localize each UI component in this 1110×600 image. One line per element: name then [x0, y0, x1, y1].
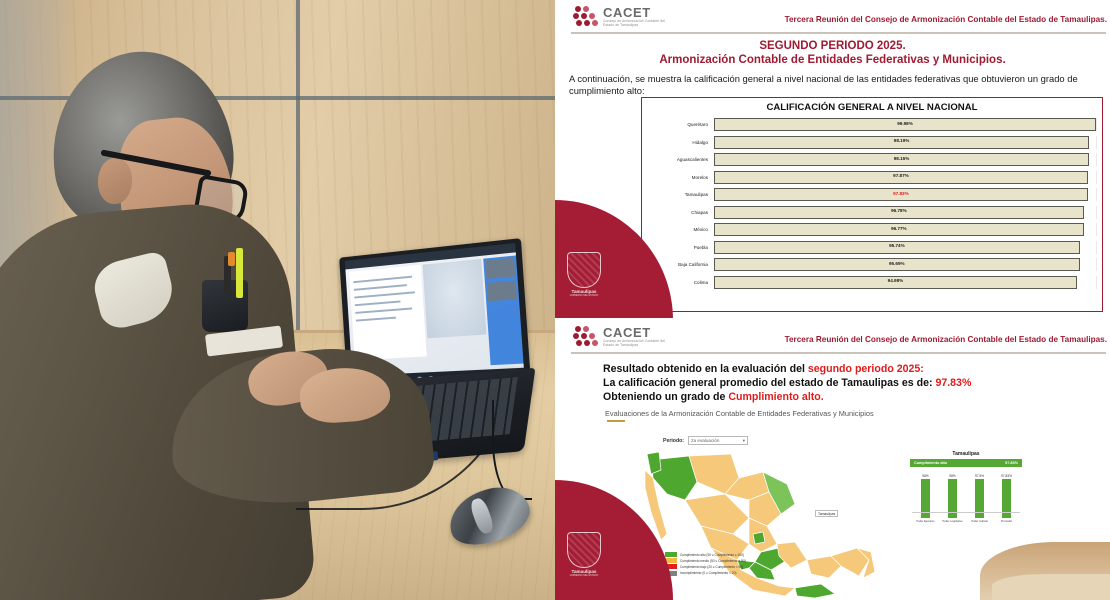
- mini-bar-value: 98%: [943, 474, 963, 478]
- state-aguascalientes[interactable]: [753, 532, 765, 544]
- bar-category-label: Tamaulipas: [642, 192, 714, 197]
- corner-decoration-tan-light: [992, 574, 1110, 600]
- slide-resultado-tamaulipas: CACET Consejo de Armonización Contable d…: [555, 320, 1110, 600]
- bar-value-label: 96.78%: [891, 208, 907, 213]
- meeting-photo: ThinkPad: [0, 0, 555, 600]
- tamaulipas-result-panel: Tamaulipas Cumplimiento alto 97.83% 98%P…: [907, 450, 1025, 532]
- period-label: Periodo:: [663, 438, 684, 444]
- cacet-logo: CACET Consejo de Armonización Contable d…: [573, 324, 693, 352]
- bar-value-label: 95.69%: [889, 261, 905, 266]
- legend-item: Cumplimiento bajo (20 ≤ Cumplimiento < 5…: [665, 564, 746, 569]
- chart-title: CALIFICACIÓN GENERAL A NIVEL NACIONAL: [642, 98, 1102, 116]
- chart-gridline: [1096, 258, 1097, 271]
- bar-category-label: Hidalgo: [642, 140, 714, 145]
- highlighter-pen: [236, 248, 243, 298]
- chevron-down-icon: ▾: [743, 438, 745, 444]
- cacet-logo-subtitle: Consejo de Armonización Contable del Est…: [603, 339, 673, 347]
- bar-value-label: 98.15%: [894, 156, 910, 161]
- seal-shield-icon: [567, 252, 601, 288]
- cacet-logo-subtitle: Consejo de Armonización Contable del Est…: [603, 19, 673, 27]
- bar-value-label: 96.77%: [891, 226, 907, 231]
- slide1-lead-text: A continuación, se muestra la calificaci…: [569, 73, 1096, 97]
- compliance-value: 97.83%: [1005, 461, 1018, 465]
- bar-track: 97.83%: [714, 188, 1096, 201]
- chart-gridline: [1096, 153, 1097, 166]
- bar-category-label: Puebla: [642, 245, 714, 250]
- mini-bar-column: 97.5%Poder Judicial: [970, 474, 990, 523]
- cacet-logo: CACET Consejo de Armonización Contable d…: [573, 4, 693, 32]
- bar-value-label: 98.19%: [894, 138, 910, 143]
- cacet-logo-dots-icon: [573, 326, 599, 350]
- person-ear: [98, 158, 132, 204]
- legend-item: Cumplimiento alto (90 ≤ Cumplimiento ≤ 1…: [665, 552, 746, 557]
- legend-label: Cumplimiento medio (50 ≤ Cumplimiento < …: [680, 559, 746, 563]
- seal-subtitle: GOBIERNO DEL ESTADO: [567, 574, 601, 577]
- chart-gridline: [1096, 188, 1097, 201]
- chart-gridline: [1096, 206, 1097, 219]
- bar-value-label: 95.74%: [889, 243, 905, 248]
- compliance-label: Cumplimiento alto: [914, 461, 947, 465]
- state-durango[interactable]: [685, 494, 749, 534]
- cacet-logo-dots-icon: [573, 6, 599, 30]
- bar-value-label: 94.98%: [888, 278, 904, 283]
- chart-bar-row: Querétaro99.98%: [642, 116, 1096, 133]
- chart-bar-row: Puebla95.74%: [642, 239, 1096, 256]
- tamaulipas-seal: Tamaulipas GOBIERNO DEL ESTADO: [567, 252, 601, 292]
- slide1-title-line1: SEGUNDO PERIODO 2025.: [555, 40, 1110, 52]
- slide2-result-text: Resultado obtenido en la evaluación del …: [603, 362, 1110, 404]
- bar-category-label: Morelos: [642, 175, 714, 180]
- cacet-logo-text: CACET: [603, 5, 651, 20]
- header-divider: [571, 352, 1106, 354]
- bar-track: 96.78%: [714, 206, 1096, 219]
- period-select[interactable]: 2a evaluación ▾: [688, 436, 748, 445]
- bar-track: 98.15%: [714, 153, 1096, 166]
- chart-bar-row: Aguascalientes98.15%: [642, 151, 1096, 168]
- app-title: Evaluaciones de la Armonización Contable…: [605, 409, 1110, 418]
- chart-bar-row: Chiapas96.78%: [642, 204, 1096, 221]
- map-tooltip-tamaulipas: Tamaulipas: [815, 510, 838, 517]
- result-line2-a: La calificación general promedio del est…: [603, 377, 935, 389]
- tamaulipas-panel-title: Tamaulipas: [907, 450, 1025, 457]
- mini-bar-column: 97.83%Promedio: [997, 474, 1017, 523]
- pen: [228, 252, 235, 266]
- slide2-header: CACET Consejo de Armonización Contable d…: [555, 320, 1110, 354]
- legend-label: Incumplimiento (0 ≤ Cumplimiento < 20): [680, 571, 736, 575]
- legend-swatch: [665, 552, 677, 557]
- legend-label: Cumplimiento alto (90 ≤ Cumplimiento ≤ 1…: [680, 553, 744, 557]
- chart-bar-row: Morelos97.87%: [642, 169, 1096, 186]
- bar-track: 94.98%: [714, 276, 1096, 289]
- cacet-logo-text: CACET: [603, 325, 651, 340]
- bar-track: 96.77%: [714, 223, 1096, 236]
- tamaulipas-compliance-badge: Cumplimiento alto 97.83%: [910, 459, 1022, 467]
- chart-bar-row: Tamaulipas97.83%: [642, 186, 1096, 203]
- map-legend: Cumplimiento alto (90 ≤ Cumplimiento ≤ 1…: [665, 552, 746, 577]
- result-line3-a: Obteniendo un grado de: [603, 391, 728, 403]
- slide-chart-nacional: CACET Consejo de Armonización Contable d…: [555, 0, 1110, 320]
- bar-category-label: Aguascalientes: [642, 157, 714, 162]
- mini-bar-value: 97.83%: [997, 474, 1017, 478]
- screenshot-root: ThinkPad CACET Cons: [0, 0, 1110, 600]
- bar-value-label: 99.98%: [897, 121, 913, 126]
- app-title-underline: [607, 420, 625, 422]
- mini-bar-label: Promedio: [997, 520, 1017, 523]
- result-line2-b: 97.83%: [935, 377, 971, 389]
- bar-track: 98.19%: [714, 136, 1096, 149]
- tamaulipas-bars: 98%Poder Ejecutivo98%Poder Legislativo97…: [912, 471, 1020, 523]
- state-chiapas[interactable]: [795, 584, 835, 598]
- mini-bar-column: 98%Poder Legislativo: [943, 474, 963, 523]
- result-line1-b: segundo periodo 2025:: [808, 363, 924, 375]
- result-line3-b: Cumplimiento alto.: [728, 391, 823, 403]
- state-baja-california[interactable]: [647, 452, 661, 474]
- mini-bar-value: 97.5%: [970, 474, 990, 478]
- state-veracruz[interactable]: [777, 542, 807, 568]
- bar-category-label: Querétaro: [642, 122, 714, 127]
- screen-shared-image: [423, 259, 487, 338]
- legend-item: Incumplimiento (0 ≤ Cumplimiento < 20): [665, 571, 746, 576]
- mini-bar-label: Poder Judicial: [970, 520, 990, 523]
- chart-gridline: [1096, 241, 1097, 254]
- result-line1-a: Resultado obtenido en la evaluación del: [603, 363, 808, 375]
- chart-bar-row: Hidalgo98.19%: [642, 134, 1096, 151]
- chart-bars-container: Querétaro99.98%Hidalgo98.19%Aguascalient…: [642, 116, 1102, 291]
- chart-gridline: [1096, 136, 1097, 149]
- chart-bar-row: Colima94.98%: [642, 274, 1096, 291]
- slide2-header-title: Tercera Reunión del Consejo de Armonizac…: [785, 335, 1107, 344]
- bar-value-label: 97.83%: [893, 191, 909, 196]
- slide1-title-line2: Armonización Contable de Entidades Feder…: [555, 54, 1110, 66]
- seal-subtitle: GOBIERNO DEL ESTADO: [567, 294, 601, 297]
- bar-category-label: Chiapas: [642, 210, 714, 215]
- bar-category-label: México: [642, 227, 714, 232]
- chart-gridline: [1096, 276, 1097, 289]
- chart-card: CALIFICACIÓN GENERAL A NIVEL NACIONAL Qu…: [641, 97, 1103, 312]
- period-filter[interactable]: Periodo: 2a evaluación ▾: [663, 436, 748, 445]
- chart-gridline: [1096, 223, 1097, 236]
- tamaulipas-seal: Tamaulipas GOBIERNO DEL ESTADO: [567, 532, 601, 572]
- chart-gridline: [1096, 118, 1097, 131]
- bar-track: 97.87%: [714, 171, 1096, 184]
- slide1-header-title: Tercera Reunión del Consejo de Armonizac…: [785, 15, 1107, 24]
- video-tile: [485, 258, 515, 279]
- mini-bar-value: 98%: [916, 474, 936, 478]
- slide1-header: CACET Consejo de Armonización Contable d…: [555, 0, 1110, 34]
- chart-gridline: [1096, 171, 1097, 184]
- chart-bar-row: Baja California95.69%: [642, 256, 1096, 273]
- bar-track: 99.98%: [714, 118, 1096, 131]
- mini-bar-label: Poder Ejecutivo: [916, 520, 936, 523]
- bar-value-label: 97.87%: [893, 173, 909, 178]
- seal-shield-icon: [567, 532, 601, 568]
- legend-label: Cumplimiento bajo (20 ≤ Cumplimiento < 5…: [680, 565, 743, 569]
- mini-bar-label: Poder Legislativo: [943, 520, 963, 523]
- legend-item: Cumplimiento medio (50 ≤ Cumplimiento < …: [665, 558, 746, 563]
- bar-track: 95.69%: [714, 258, 1096, 271]
- video-tile: [487, 281, 517, 302]
- mini-bar-column: 98%Poder Ejecutivo: [916, 474, 936, 523]
- bar-axis: [912, 512, 1020, 513]
- bar-track: 95.74%: [714, 241, 1096, 254]
- period-selected-value: 2a evaluación: [691, 438, 719, 443]
- header-divider: [571, 32, 1106, 34]
- chart-bar-row: México96.77%: [642, 221, 1096, 238]
